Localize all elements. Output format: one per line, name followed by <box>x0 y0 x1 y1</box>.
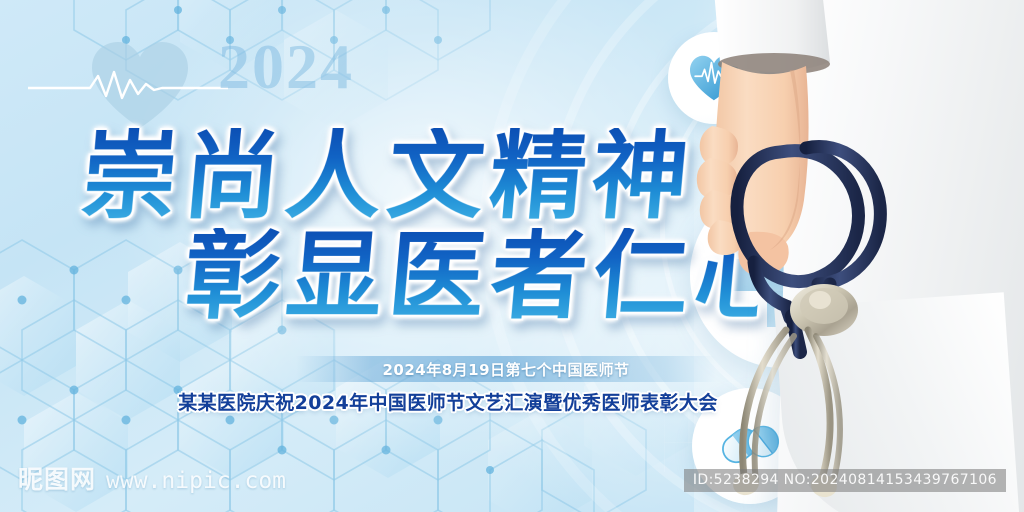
subtitle-bar-text: 2024年8月19日第七个中国医师节 <box>382 359 629 380</box>
asset-id-label: ID:5238294 NO:20240814153439767106 <box>684 469 1006 492</box>
site-url: www.nipic.com <box>106 468 286 494</box>
headline-line-1: 崇尚人文精神 <box>0 128 764 226</box>
ecg-line-icon <box>28 68 228 102</box>
site-name-cn: 昵图网 <box>18 460 96 496</box>
poster-canvas: 2024 <box>0 0 1024 512</box>
doctor-hand-stethoscope-image <box>694 0 1024 512</box>
headline-block: 崇尚人文精神 彰显医者仁心 <box>0 128 760 326</box>
headline-line-2: 彰显医者仁心 <box>0 228 764 326</box>
site-watermark: 昵图网 www.nipic.com <box>18 460 286 496</box>
stethoscope-and-hand <box>694 0 1024 512</box>
year-watermark: 2024 <box>218 30 354 104</box>
subtitle-bar: 2024年8月19日第七个中国医师节 <box>296 356 716 382</box>
